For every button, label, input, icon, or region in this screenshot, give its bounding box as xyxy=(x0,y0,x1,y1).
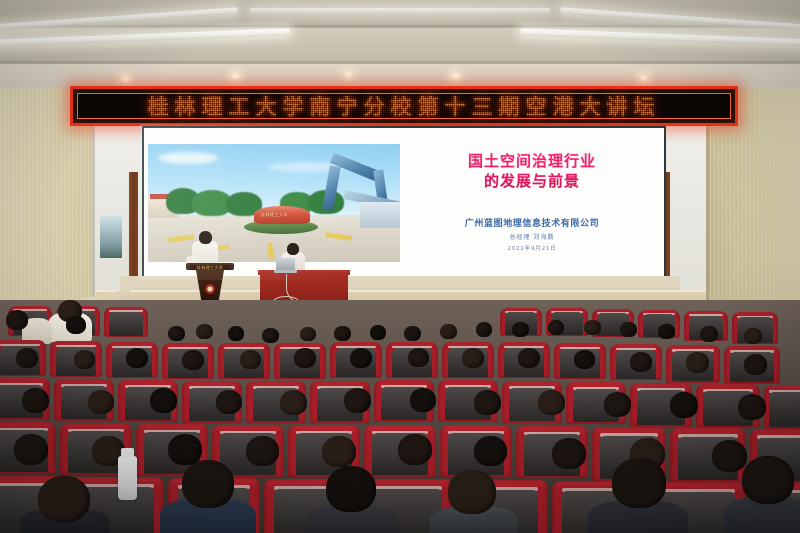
attendee-head xyxy=(326,466,376,512)
attendee-head xyxy=(88,390,114,414)
attendee-head xyxy=(548,320,564,335)
attendee-head xyxy=(280,390,307,415)
laptop-base xyxy=(274,270,297,273)
attendee-head xyxy=(700,326,718,342)
attendee-head xyxy=(168,434,202,465)
attendee-head xyxy=(604,392,631,417)
slide-title-line2: 的发展与前景 xyxy=(414,172,650,192)
downlight-icon xyxy=(345,72,352,77)
attendee-head xyxy=(408,348,429,367)
attendee-head xyxy=(686,352,709,373)
auditorium-photo: 桂林理工大学南宁分校第十三期空港大讲坛 桂林理工大学 xyxy=(0,0,800,533)
projection-screen-frame: 桂林理工大学 国土空间治理行业 的发展与前景 广州蓝图地理信息技术有限公司 总经… xyxy=(142,126,666,278)
attendee-head xyxy=(474,390,501,415)
attendee-head xyxy=(322,436,356,467)
slide-campus-photo: 桂林理工大学 xyxy=(148,144,400,262)
attendee-head xyxy=(612,458,666,508)
downlight-icon xyxy=(232,74,239,79)
attendee-head xyxy=(38,476,90,522)
attendee-head xyxy=(448,470,496,514)
attendee-head xyxy=(182,460,234,508)
slide-title-line1: 国土空间治理行业 xyxy=(414,152,650,172)
attendee-head xyxy=(240,350,261,369)
attendee-head xyxy=(6,310,28,330)
attendee-head xyxy=(182,350,204,370)
presenter-table-cloth xyxy=(260,274,348,302)
podium-plaque: 桂林理工大学 xyxy=(190,265,230,270)
attendee-head xyxy=(168,326,185,341)
attendee-head xyxy=(474,436,507,466)
attendee-head xyxy=(744,354,767,375)
campus-monument: 桂林理工大学 xyxy=(254,206,310,224)
podium-emblem xyxy=(205,284,215,294)
water-bottle[interactable] xyxy=(118,456,137,500)
attendee-head xyxy=(670,392,698,418)
attendee-head xyxy=(742,456,794,504)
attendee-head xyxy=(370,325,386,340)
attendee-head xyxy=(246,436,279,466)
audience-seating xyxy=(0,300,800,533)
attendee-head xyxy=(476,322,492,337)
slide-date: 2022年9月21日 xyxy=(414,244,650,252)
attendee-head xyxy=(66,316,86,334)
attendee-head xyxy=(620,322,637,337)
podium-plaque-text: 桂林理工大学 xyxy=(197,265,223,271)
attendee-head xyxy=(398,434,432,465)
attendee-head xyxy=(334,326,351,341)
attendee-head xyxy=(344,388,371,413)
attendee-head xyxy=(462,348,484,368)
speaker-head xyxy=(199,231,212,244)
slide-organization: 广州蓝图地理信息技术有限公司 xyxy=(414,216,650,229)
attendee-head xyxy=(552,438,586,469)
attendee-head xyxy=(738,394,766,420)
attendee-head xyxy=(16,348,38,368)
downlight-icon xyxy=(640,76,647,81)
attendee-head xyxy=(300,327,316,341)
attendee-head xyxy=(294,348,316,368)
attendee-head xyxy=(440,324,457,339)
attendee-head xyxy=(126,348,148,368)
attendee-head xyxy=(196,324,213,339)
attendee-head xyxy=(22,388,49,413)
attendee-head xyxy=(150,388,177,413)
downlight-icon xyxy=(452,74,459,79)
assistant-head xyxy=(287,243,299,255)
projection-screen: 桂林理工大学 国土空间治理行业 的发展与前景 广州蓝图地理信息技术有限公司 总经… xyxy=(144,128,664,276)
attendee-head xyxy=(658,324,675,339)
attendee-head xyxy=(228,326,244,341)
attendee-head xyxy=(584,320,601,335)
attendee-head xyxy=(262,328,279,343)
attendee-head xyxy=(216,390,242,414)
attendee-head xyxy=(744,328,762,344)
door-glass-left xyxy=(100,216,122,258)
attendee-head xyxy=(630,352,652,372)
attendee-head xyxy=(404,326,421,341)
ceiling-light-strip xyxy=(250,8,550,13)
attendee-head xyxy=(350,348,372,368)
downlight-icon xyxy=(122,77,129,82)
slide-presenter: 总经理 刘海鹏 xyxy=(414,232,650,241)
attendee-head xyxy=(512,322,529,337)
slide-title: 国土空间治理行业 的发展与前景 xyxy=(414,152,650,192)
led-banner-text: 桂林理工大学南宁分校第十三期空港大讲坛 xyxy=(148,91,661,121)
seat[interactable] xyxy=(764,385,800,429)
seat[interactable] xyxy=(104,307,148,337)
attendee-head xyxy=(74,350,95,369)
led-banner: 桂林理工大学南宁分校第十三期空港大讲坛 xyxy=(70,86,738,126)
attendee-head xyxy=(410,388,436,412)
attendee-head xyxy=(538,390,565,415)
attendee-head xyxy=(712,440,747,472)
attendee-head xyxy=(14,434,48,465)
attendee-head xyxy=(574,350,595,369)
attendee-head xyxy=(518,348,540,368)
monument-caption: 桂林理工大学 xyxy=(261,212,288,218)
